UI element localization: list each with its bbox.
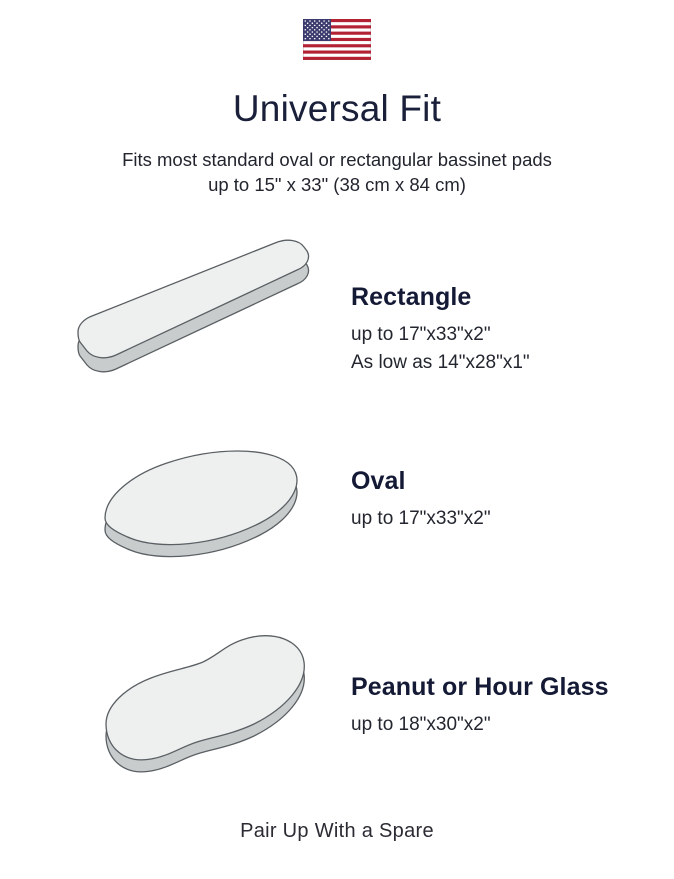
rectangle-art-container [55, 236, 335, 411]
peanut-heading: Peanut or Hour Glass [351, 672, 661, 702]
product-row-peanut: Peanut or Hour Glass up to 18"x30"x2" [0, 626, 674, 801]
oval-mattress-icon [55, 434, 335, 609]
rectangle-detail-2: As low as 14"x28"x1" [351, 349, 661, 377]
footer-tagline: Pair Up With a Spare [0, 818, 674, 844]
rectangle-heading: Rectangle [351, 282, 661, 312]
subtitle-line-1: Fits most standard oval or rectangular b… [0, 147, 674, 172]
oval-art-container [55, 434, 335, 609]
us-flag-icon [303, 19, 371, 60]
peanut-info: Peanut or Hour Glass up to 18"x30"x2" [351, 672, 661, 739]
oval-info: Oval up to 17"x33"x2" [351, 466, 661, 533]
flag-container [0, 19, 674, 60]
rectangle-info: Rectangle up to 17"x33"x2" As low as 14"… [351, 282, 661, 377]
product-row-oval: Oval up to 17"x33"x2" [0, 434, 674, 599]
rectangle-mattress-icon [55, 236, 335, 411]
peanut-art-container [55, 626, 335, 801]
oval-detail-1: up to 17"x33"x2" [351, 505, 661, 533]
rectangle-detail-1: up to 17"x33"x2" [351, 321, 661, 349]
page-subtitle: Fits most standard oval or rectangular b… [0, 147, 674, 197]
product-row-rectangle: Rectangle up to 17"x33"x2" As low as 14"… [0, 236, 674, 411]
peanut-detail-1: up to 18"x30"x2" [351, 711, 661, 739]
page-title: Universal Fit [0, 87, 674, 131]
universal-fit-infographic: Universal Fit Fits most standard oval or… [0, 0, 674, 879]
subtitle-line-2: up to 15" x 33" (38 cm x 84 cm) [0, 172, 674, 197]
oval-heading: Oval [351, 466, 661, 496]
peanut-mattress-icon [55, 626, 335, 801]
